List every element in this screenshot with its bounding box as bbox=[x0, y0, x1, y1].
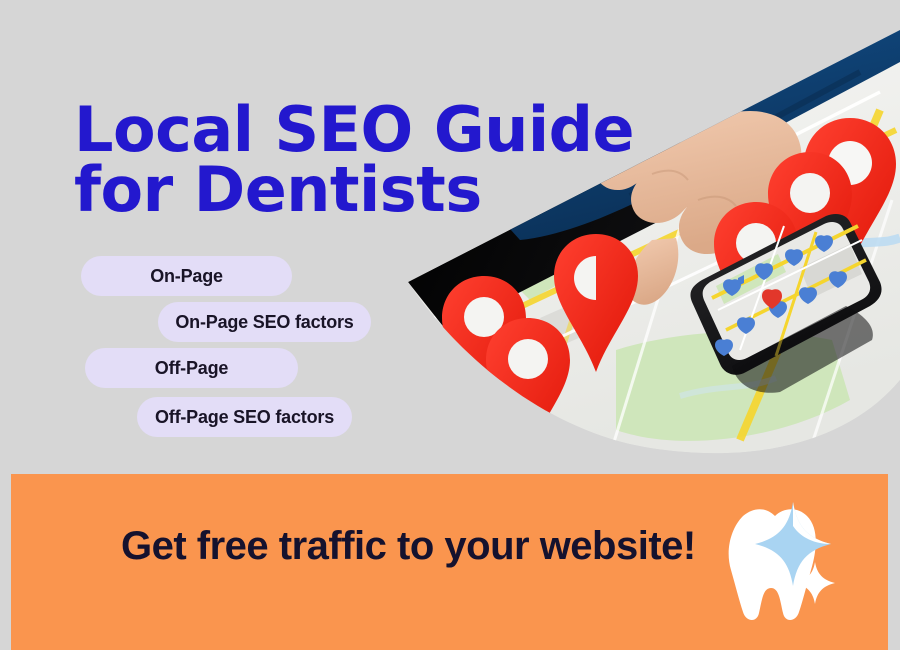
hero-photo-illustration bbox=[380, 0, 900, 465]
cta-banner-text: Get free traffic to your website! bbox=[121, 524, 696, 569]
poster-canvas: Local SEO Guide for Dentists On-Page On-… bbox=[0, 0, 900, 650]
pill-off-page[interactable]: Off-Page bbox=[85, 348, 298, 388]
pill-label: On-Page SEO factors bbox=[175, 312, 353, 333]
pill-on-page[interactable]: On-Page bbox=[81, 256, 292, 296]
pill-label: Off-Page bbox=[155, 358, 228, 379]
pill-label: Off-Page SEO factors bbox=[155, 407, 334, 428]
cta-banner: Get free traffic to your website! bbox=[11, 474, 888, 650]
page-title: Local SEO Guide for Dentists bbox=[74, 100, 674, 222]
hero-photo bbox=[380, 0, 900, 465]
pill-label: On-Page bbox=[150, 266, 223, 287]
tooth-shape bbox=[729, 509, 816, 620]
map-pin-icon bbox=[486, 318, 570, 456]
pill-on-page-seo-factors[interactable]: On-Page SEO factors bbox=[158, 302, 371, 342]
tooth-sparkle-logo bbox=[701, 496, 841, 626]
map-pin-icon bbox=[388, 336, 460, 454]
pill-off-page-seo-factors[interactable]: Off-Page SEO factors bbox=[137, 397, 352, 437]
